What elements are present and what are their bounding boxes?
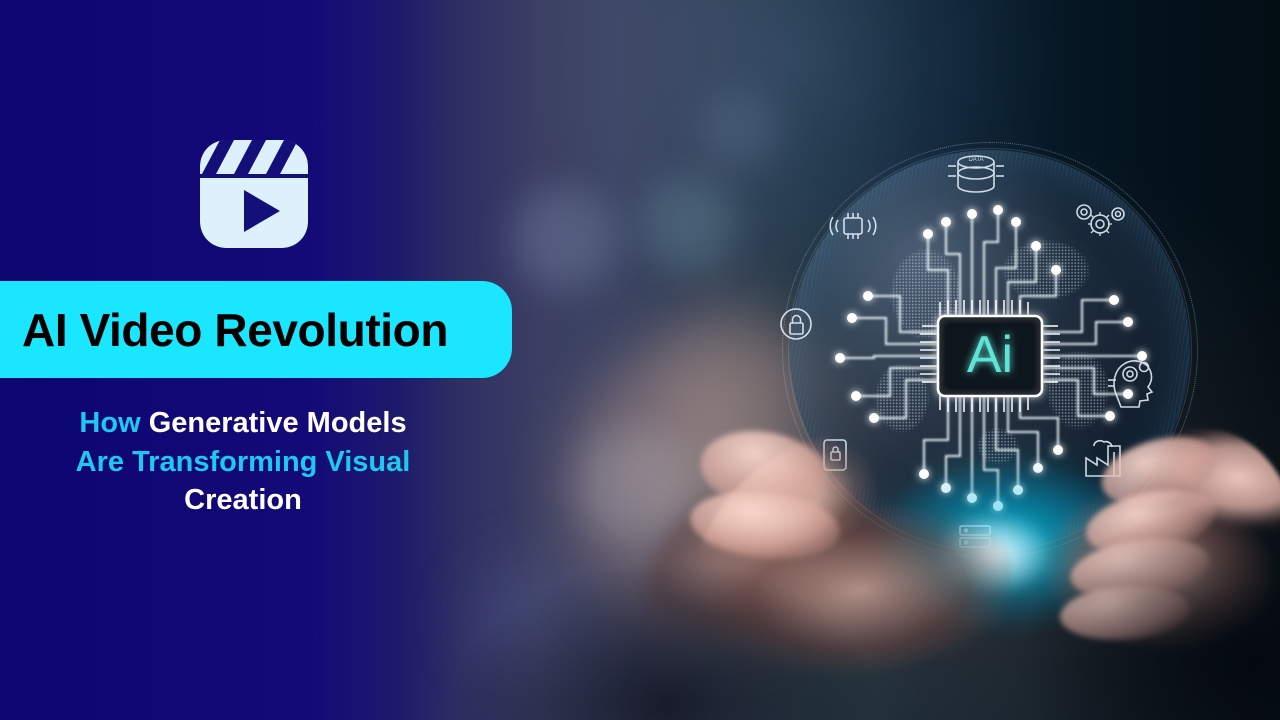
subtitle-line-3: Creation <box>28 481 458 520</box>
video-clapperboard-icon <box>196 136 312 252</box>
subtitle-line-2: Are Transforming Visual <box>28 443 458 482</box>
subtitle-accent-1: How <box>79 407 148 439</box>
page-title: AI Video Revolution <box>22 303 448 357</box>
subtitle: How Generative Models Are Transforming V… <box>28 404 458 520</box>
subtitle-line-1: How Generative Models <box>28 404 458 443</box>
head-gears-ai-icon <box>1108 361 1152 407</box>
svg-text:Ai: Ai <box>967 326 1013 384</box>
microchip-wireless-icon <box>830 213 876 239</box>
bokeh-circle <box>470 560 590 680</box>
bokeh-circle <box>640 176 736 272</box>
gears-icon <box>1077 205 1124 236</box>
bokeh-circle <box>700 90 780 170</box>
database-icon: DATA <box>948 156 1004 192</box>
ai-chip: Ai <box>938 316 1042 396</box>
svg-text:DATA: DATA <box>968 157 983 163</box>
subtitle-plain-1: Generative Models <box>149 407 407 439</box>
poster-canvas: Ai DATA <box>0 0 1280 720</box>
title-banner: AI Video Revolution <box>0 281 512 378</box>
bokeh-circle <box>512 186 616 290</box>
